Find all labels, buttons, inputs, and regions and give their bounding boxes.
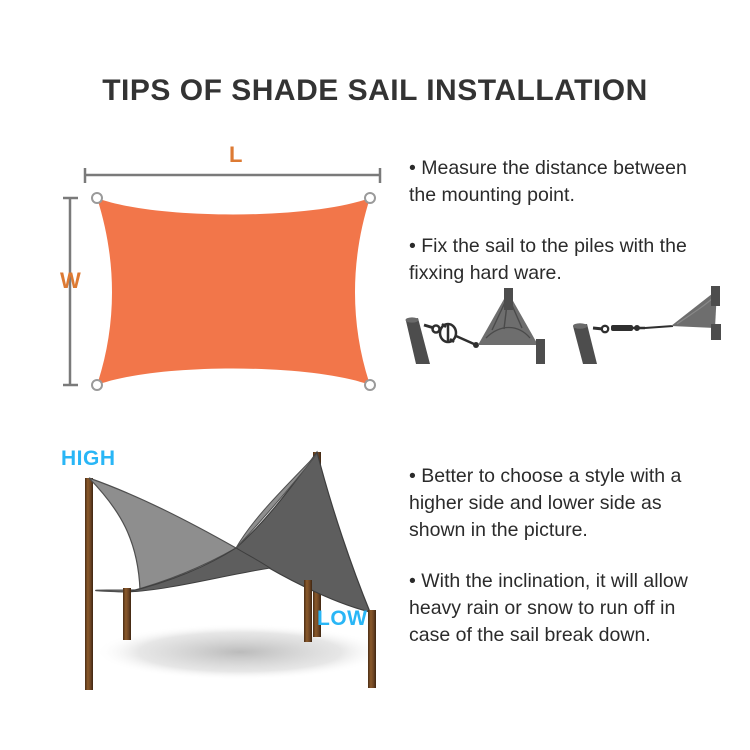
page-title: TIPS OF SHADE SAIL INSTALLATION	[0, 74, 750, 108]
tension-cable	[456, 336, 474, 344]
low-side-label: LOW	[317, 607, 367, 631]
length-dimension-label: L	[229, 142, 242, 168]
high-low-sail-illustration	[40, 440, 415, 700]
turnbuckle-icon	[440, 324, 456, 342]
sail-fabric-shape	[97, 198, 370, 385]
tips-text-top: • Measure the distance between the mount…	[409, 155, 750, 287]
rect-sail-diagram: L W	[60, 140, 405, 400]
tips-text-bottom: • Better to choose a style with a higher…	[409, 463, 750, 649]
grommet-ring-top-left	[92, 193, 102, 203]
hardware-illustration-right	[565, 284, 750, 364]
high-low-sail-diagram: HIGH LOW	[40, 440, 415, 700]
sail-corner-panel	[671, 290, 717, 328]
bullet-choose-style: • Better to choose a style with a higher…	[409, 463, 750, 544]
post-low-left	[123, 588, 131, 640]
grommet-ring-bottom-left	[92, 380, 102, 390]
ground-shadow	[95, 624, 385, 680]
rect-sail-illustration	[60, 140, 405, 400]
bullet-fix-sail-to-piles: • Fix the sail to the piles with the fix…	[409, 233, 750, 287]
post-low-mid	[304, 580, 312, 642]
post-high-left	[85, 478, 93, 690]
turnbuckle-icon	[611, 325, 645, 331]
grommet-ring-top-right	[365, 193, 375, 203]
width-dimension-label: W	[60, 268, 81, 294]
snap-hook-icon	[593, 326, 608, 332]
bullet-inclination-runoff: • With the inclination, it will allow he…	[409, 568, 750, 649]
length-dimension-line	[85, 168, 380, 183]
grommet-ring-bottom-right	[365, 380, 375, 390]
infographic-page: TIPS OF SHADE SAIL INSTALLATION	[0, 0, 750, 750]
post-low-right	[368, 610, 376, 688]
shade-sail-dark	[236, 452, 370, 612]
snap-hook-icon	[424, 325, 440, 333]
hardware-illustration-left	[400, 284, 580, 364]
bullet-measure-distance: • Measure the distance between the mount…	[409, 155, 750, 209]
high-side-label: HIGH	[61, 447, 116, 471]
tension-cable	[645, 326, 673, 328]
